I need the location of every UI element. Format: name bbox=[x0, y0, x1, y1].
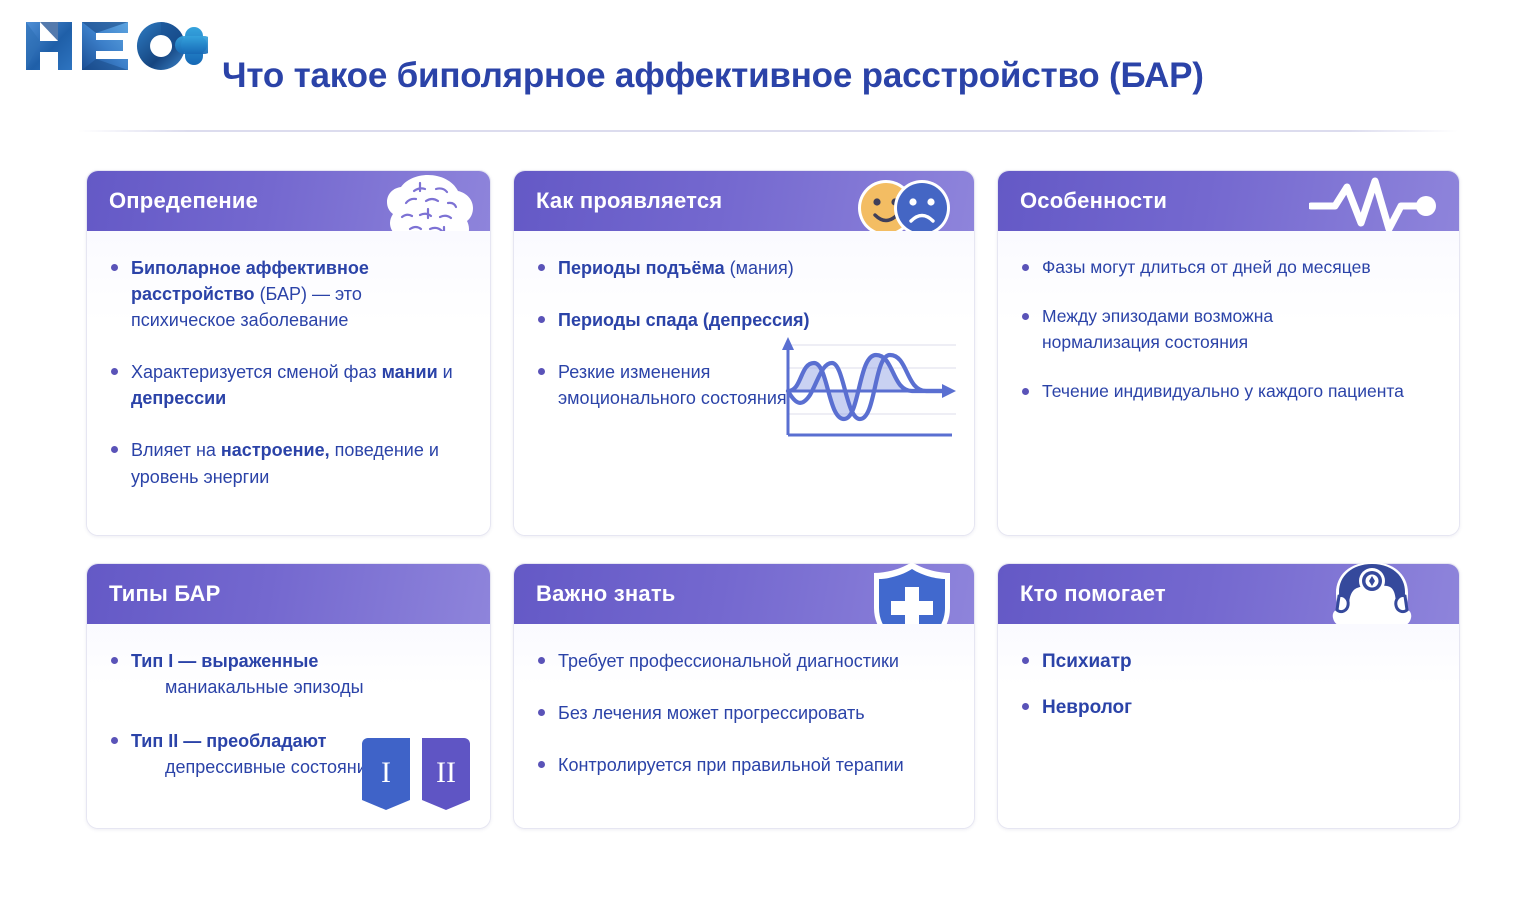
bullet-text: Фазы могут длиться от дней до месяцев bbox=[1042, 257, 1371, 277]
list-item: Резкие изменения эмоционального состояни… bbox=[536, 359, 798, 411]
card-definition-body: Биполарное аффективное расстройство (БАР… bbox=[87, 231, 490, 535]
list-item: Течение индивидуально у каждого пациента bbox=[1020, 379, 1437, 404]
card-features[interactable]: Особенности Фазы могут длиться от дней д… bbox=[997, 170, 1460, 536]
bullet-bold-2: депрессии bbox=[131, 388, 226, 408]
bullet-list: Психиатр Невролог bbox=[1020, 648, 1437, 721]
list-item: Между эпизодами возможна нормализация со… bbox=[1020, 304, 1342, 355]
bullet-text: Характеризуется сменой фаз bbox=[131, 362, 382, 382]
card-types-header: Типы БАР bbox=[87, 564, 490, 624]
list-item: Без лечения может прогрессировать bbox=[536, 700, 952, 726]
card-manifestation[interactable]: Как проявляется Периоды подъёма ( bbox=[513, 170, 975, 536]
brand-logo: HEO+ bbox=[18, 14, 208, 76]
card-types-title: Типы БАР bbox=[109, 581, 220, 607]
type-badges-icon: I II bbox=[358, 738, 474, 812]
bullet-bold: настроение, bbox=[221, 440, 330, 460]
bullet-text: Между эпизодами возможна нормализация со… bbox=[1042, 306, 1273, 351]
bullet-text: Течение индивидуально у каждого пациента bbox=[1042, 381, 1404, 401]
bullet-text: (мания) bbox=[725, 258, 794, 278]
bullet-bold: Тип II — преобладают bbox=[131, 731, 326, 751]
list-item: Фазы могут длиться от дней до месяцев bbox=[1020, 255, 1437, 280]
bullet-bold: Периоды подъёма bbox=[558, 258, 725, 278]
bullet-bold: Периоды спада (депрессия) bbox=[558, 310, 810, 330]
type-badge-label-1: I bbox=[381, 756, 391, 789]
card-definition-header: Опредепение bbox=[87, 171, 490, 231]
bullet-bold: Тип I — выраженные bbox=[131, 651, 318, 671]
card-manifestation-body: Периоды подъёма (мания) Периоды спада (д… bbox=[514, 231, 974, 535]
card-important-header: Важно знать bbox=[514, 564, 974, 624]
list-item: Биполарное аффективное расстройство (БАР… bbox=[109, 255, 468, 333]
page-header: HEO+ Что такое биполярное аффективное ра… bbox=[0, 0, 1536, 132]
bullet-text: Контролируется при правильной терапии bbox=[558, 755, 904, 775]
list-item: Периоды подъёма (мания) bbox=[536, 255, 952, 281]
bullet-text: Без лечения может прогрессировать bbox=[558, 703, 865, 723]
card-types[interactable]: Типы БАР Тип I — выраженныеманиакальные … bbox=[86, 563, 491, 829]
bullet-list: Биполарное аффективное расстройство (БАР… bbox=[109, 255, 468, 490]
card-important-title: Важно знать bbox=[536, 581, 676, 607]
card-types-body: Тип I — выраженныеманиакальные эпизоды Т… bbox=[87, 624, 490, 828]
bullet-text: Резкие изменения эмоционального состояни… bbox=[558, 362, 787, 408]
bullet-bold: мании bbox=[382, 362, 438, 382]
card-features-title: Особенности bbox=[1020, 188, 1167, 214]
pulse-line-icon bbox=[1309, 173, 1445, 239]
bullet-list: Требует профессиональной диагностики Без… bbox=[536, 648, 952, 778]
bullet-text: Влияет на bbox=[131, 440, 221, 460]
card-who-helps-header: Кто помогает bbox=[998, 564, 1459, 624]
card-important-body: Требует профессиональной диагностики Без… bbox=[514, 624, 974, 828]
header-divider bbox=[78, 130, 1458, 132]
card-who-helps-body: Психиатр Невролог bbox=[998, 624, 1459, 828]
card-definition-title: Опредепение bbox=[109, 188, 258, 214]
bullet-bold: Невролог bbox=[1042, 697, 1132, 718]
card-who-helps-title: Кто помогает bbox=[1020, 581, 1166, 607]
card-who-helps[interactable]: Кто помогает bbox=[997, 563, 1460, 829]
card-important[interactable]: Важно знать Требует профессиональной диа… bbox=[513, 563, 975, 829]
list-item: Тип I — выраженныеманиакальные эпизоды bbox=[109, 648, 468, 700]
card-manifestation-title: Как проявляется bbox=[536, 188, 722, 214]
list-item: Влияет на настроение, поведение и уровен… bbox=[109, 437, 468, 489]
list-item: Психиатр bbox=[1020, 648, 1437, 676]
card-definition[interactable]: Опредепение bbox=[86, 170, 491, 536]
brand-logo-text: HEO+ bbox=[208, 14, 209, 15]
card-grid: Опредепение bbox=[86, 170, 1454, 829]
list-item: Невролог bbox=[1020, 694, 1437, 722]
mood-wave-chart bbox=[766, 333, 960, 441]
list-item: Характеризуется сменой фаз мании и депре… bbox=[109, 359, 468, 411]
list-item: Периоды спада (депрессия) bbox=[536, 307, 952, 333]
card-features-body: Фазы могут длиться от дней до месяцев Ме… bbox=[998, 231, 1459, 535]
card-manifestation-header: Как проявляется bbox=[514, 171, 974, 231]
type-badge-label-2: II bbox=[436, 756, 456, 789]
bullet-subtext: маниакальные эпизоды bbox=[131, 674, 468, 700]
card-features-header: Особенности bbox=[998, 171, 1459, 231]
happy-sad-faces-icon bbox=[844, 177, 956, 239]
bullet-list: Фазы могут длиться от дней до месяцев Ме… bbox=[1020, 255, 1437, 405]
bullet-bold: Психиатр bbox=[1042, 651, 1132, 672]
page-title: Что такое биполярное аффективное расстро… bbox=[222, 56, 1204, 96]
bullet-text: Требует профессиональной диагностики bbox=[558, 651, 899, 671]
list-item: Требует профессиональной диагностики bbox=[536, 648, 952, 674]
bullet-text: и bbox=[438, 362, 453, 382]
list-item: Контролируется при правильной терапии bbox=[536, 752, 952, 778]
